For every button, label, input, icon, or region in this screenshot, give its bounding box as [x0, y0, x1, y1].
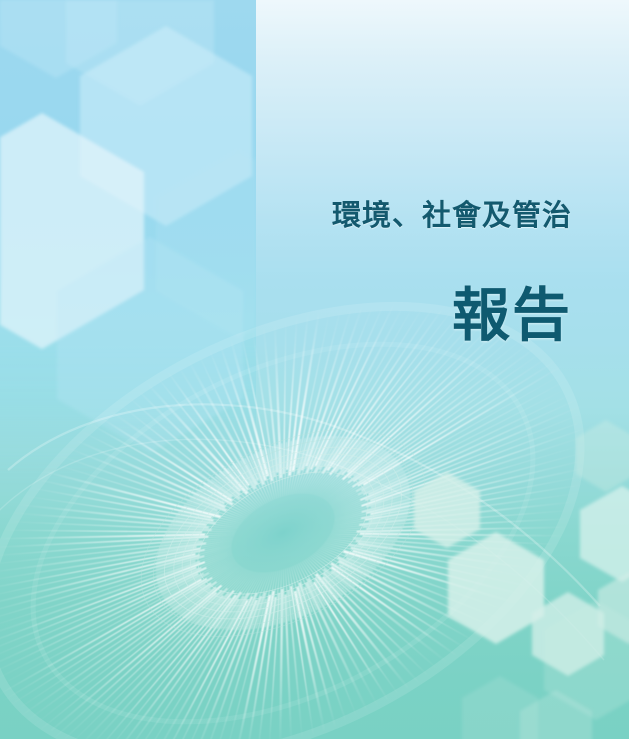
burst-ray-inner	[281, 436, 342, 494]
burst-ray	[351, 360, 594, 492]
burst-ray	[340, 359, 556, 487]
burst-ray-inner	[326, 516, 390, 574]
burst-ray-inner	[305, 554, 338, 603]
burst-ray-inner	[333, 493, 407, 547]
burst-ray	[270, 587, 364, 732]
burst-ray-inner	[329, 509, 397, 566]
left-blue-panel	[0, 0, 256, 739]
burst-ray-inner	[301, 439, 373, 495]
burst-ray-inner	[309, 549, 347, 601]
burst-ray-inner	[288, 436, 353, 494]
burst-ray-inner	[334, 491, 409, 544]
burst-ray	[361, 398, 589, 536]
burst-ray	[324, 542, 442, 699]
page-title-main: 報告	[0, 286, 572, 347]
burst-ray-inner	[285, 566, 316, 614]
burst-ray-inner	[262, 569, 305, 622]
burst-ray	[323, 550, 437, 708]
burst-ray-inner	[294, 564, 319, 610]
burst-ray	[332, 333, 551, 476]
burst-ray-inner	[306, 442, 380, 496]
burst-ray-inner	[331, 504, 401, 561]
burst-ray-inner	[279, 436, 338, 493]
burst-ray-inner	[312, 544, 355, 597]
burst-ray	[369, 415, 615, 594]
burst-ray	[243, 586, 364, 739]
burst-ray	[356, 359, 582, 485]
burst-ray	[302, 583, 380, 730]
burst-ray-inner	[334, 480, 410, 526]
burst-ray-inner	[330, 467, 403, 506]
burst-ray-inner	[312, 446, 387, 498]
hexagon-shape	[462, 676, 538, 739]
burst-ray	[331, 529, 479, 711]
burst-ray-inner	[253, 450, 286, 499]
burst-ray	[363, 461, 552, 619]
burst-ray-inner	[334, 476, 408, 518]
burst-ray	[360, 439, 596, 631]
burst-ray-inner	[286, 436, 350, 494]
burst-ray-inner	[259, 445, 299, 497]
burst-ray-inner	[314, 447, 389, 498]
burst-ray-inner	[334, 489, 409, 541]
burst-ray	[366, 396, 600, 542]
burst-ray-inner	[332, 500, 404, 556]
burst-ray	[323, 558, 432, 717]
burst-ray-inner	[334, 485, 410, 535]
burst-ray-inner	[334, 477, 409, 521]
burst-ray	[363, 386, 579, 500]
burst-ray	[363, 436, 578, 600]
burst-ray-inner	[333, 473, 406, 512]
burst-ray	[327, 331, 566, 483]
burst-ray	[346, 500, 527, 688]
burst-ray	[291, 587, 380, 739]
burst-ray	[314, 576, 391, 711]
burst-ray-inner	[270, 439, 321, 495]
burst-ray-inner	[331, 470, 404, 508]
burst-ray-inner	[258, 570, 303, 624]
burst-ray-inner	[327, 462, 401, 504]
burst-ray-inner	[265, 441, 312, 496]
burst-ray-inner	[321, 529, 376, 586]
burst-ray-inner	[332, 472, 405, 510]
burst-ray-inner	[330, 507, 399, 564]
burst-ray	[331, 543, 446, 689]
burst-ray-inner	[271, 568, 309, 620]
burst-ray-inner	[325, 460, 400, 504]
burst-ray-inner	[300, 561, 325, 607]
burst-ray	[353, 459, 557, 632]
burst-ray	[365, 377, 618, 522]
burst-ray-inner	[334, 484, 410, 533]
burst-ray	[366, 438, 584, 608]
burst-ray	[331, 522, 483, 702]
burst-ray	[371, 395, 612, 548]
burst-ray	[359, 435, 570, 593]
burst-ray-inner	[328, 511, 395, 569]
burst-ray	[360, 380, 605, 517]
burst-ray-inner	[318, 451, 394, 500]
burst-ray-inner	[276, 567, 312, 618]
burst-ray-inner	[263, 442, 308, 496]
burst-ray-inner	[299, 439, 370, 495]
burst-ray-inner	[323, 457, 398, 502]
burst-ray-inner	[334, 482, 410, 530]
burst-ray	[338, 510, 489, 672]
burst-ray-inner	[297, 438, 367, 495]
burst-ray-inner	[280, 567, 313, 616]
burst-ray	[361, 413, 598, 578]
burst-ray	[349, 465, 566, 664]
burst-ray-inner	[320, 453, 396, 501]
report-cover-page: 環境、社會及管治 報告	[0, 0, 629, 739]
burst-ray	[370, 416, 588, 565]
burst-ray	[356, 462, 561, 641]
burst-ray	[315, 569, 398, 704]
burst-ray	[280, 583, 364, 721]
burst-ray-inner	[272, 438, 326, 495]
burst-ray-inner	[308, 443, 382, 497]
burst-ray	[370, 401, 577, 523]
burst-ray	[358, 467, 564, 651]
burst-ray-inner	[292, 437, 360, 494]
burst-ray-inner	[310, 546, 350, 598]
burst-ray-inner	[267, 569, 307, 621]
burst-ray	[362, 392, 622, 562]
burst-ray-inner	[274, 437, 329, 494]
burst-ray-inner	[249, 571, 298, 626]
burst-ray-inner	[317, 536, 366, 591]
burst-ray	[344, 488, 528, 669]
burst-ray	[365, 414, 606, 586]
hexagon-shape	[520, 690, 592, 739]
burst-ray	[316, 558, 425, 726]
burst-ray-inner	[304, 441, 377, 496]
burst-ray-inner	[302, 559, 330, 606]
burst-ray-inner	[310, 444, 385, 497]
burst-ray-inner	[333, 474, 407, 515]
burst-ray-inner	[333, 498, 406, 553]
burst-ray-inner	[316, 449, 392, 499]
burst-ray-inner	[333, 495, 407, 549]
burst-ray	[358, 389, 566, 495]
burst-ray	[342, 328, 592, 480]
burst-ray-inner	[254, 570, 301, 625]
burst-ray-inner	[323, 524, 382, 581]
burst-ray-inner	[314, 541, 359, 595]
burst-ray-inner	[322, 526, 379, 583]
burst-ray	[308, 576, 384, 719]
burst-ray-inner	[325, 519, 387, 577]
burst-ray-inner	[276, 437, 333, 494]
burst-ray-inner	[327, 514, 392, 572]
burst-ray	[368, 383, 592, 504]
burst-ray	[339, 522, 486, 690]
burst-ray	[353, 490, 527, 657]
burst-ray-inner	[315, 539, 362, 594]
burst-ray	[338, 516, 487, 681]
burst-ray	[348, 359, 569, 486]
burst-ray-inner	[298, 563, 321, 608]
burst-ray	[359, 361, 606, 491]
burst-ray	[335, 329, 580, 481]
burst-ray-inner	[289, 565, 317, 612]
burst-ray-inner	[324, 521, 385, 579]
burst-ray	[325, 336, 538, 478]
burst-ray-inner	[328, 465, 402, 506]
burst-ray-inner	[318, 534, 369, 590]
burst-ray-inner	[295, 437, 364, 494]
burst-ray-inner	[267, 440, 316, 495]
burst-ray-inner	[304, 556, 335, 604]
burst-ray	[345, 494, 528, 679]
hexagon-shape	[414, 472, 480, 548]
burst-ray-inner	[322, 455, 398, 501]
burst-ray-inner	[283, 436, 345, 494]
burst-ray	[366, 416, 579, 558]
burst-ray-inner	[307, 551, 343, 602]
burst-ray	[259, 591, 363, 739]
burst-ray	[351, 485, 525, 648]
burst-ray-inner	[334, 487, 409, 538]
burst-ray-inner	[334, 479, 409, 524]
burst-ray-inner	[319, 531, 373, 588]
right-blue-strip	[588, 0, 629, 739]
hexagon-shape	[448, 532, 544, 644]
burst-ray-inner	[257, 446, 295, 498]
burst-ray-inner	[331, 502, 402, 558]
burst-ray	[357, 436, 591, 622]
burst-ray-inner	[290, 436, 357, 494]
cover-title-block: 環境、社會及管治 報告	[0, 198, 588, 347]
page-title-subtitle: 環境、社會及管治	[0, 198, 572, 234]
burst-ray-inner	[255, 448, 291, 499]
burst-ray-inner	[261, 443, 304, 496]
